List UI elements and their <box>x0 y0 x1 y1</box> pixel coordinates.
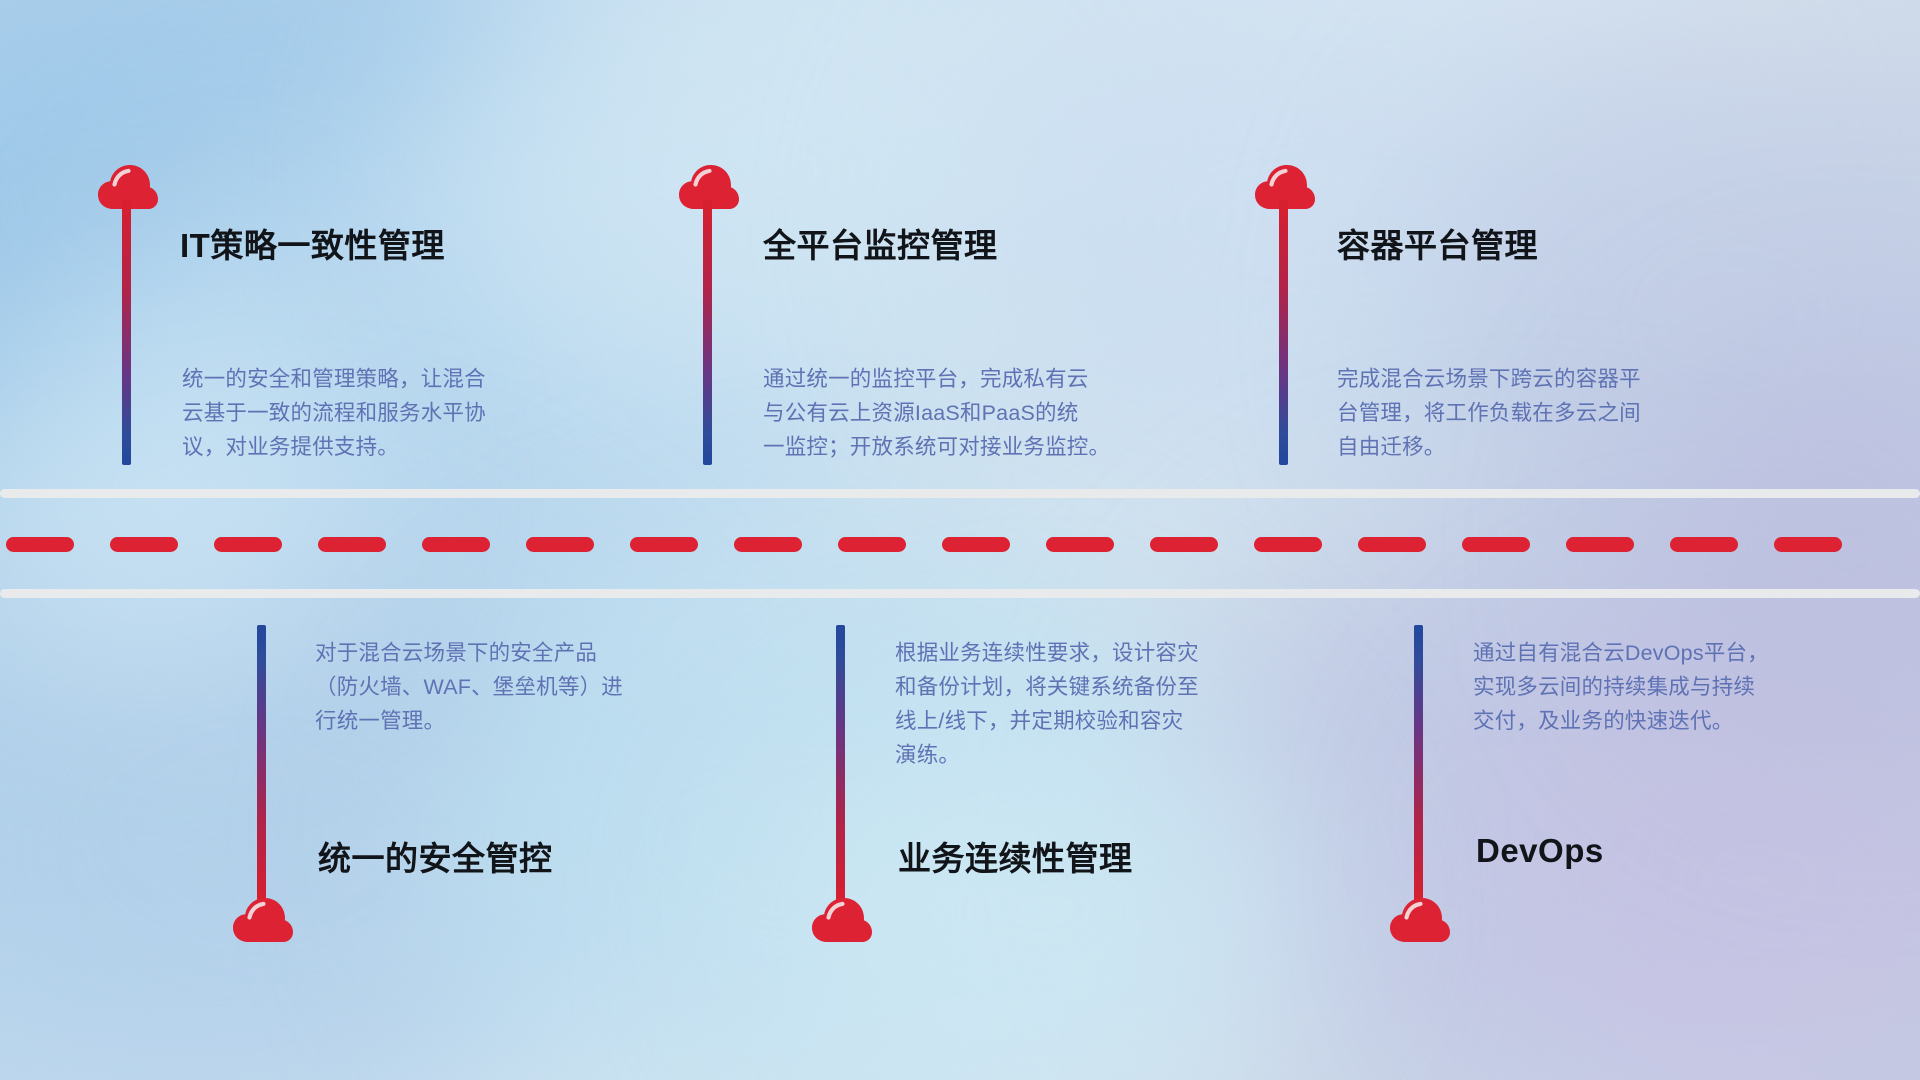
divider-dash <box>318 537 386 552</box>
column-body-text: 对于混合云场景下的安全产品 （防火墙、WAF、堡垒机等）进 行统一管理。 <box>315 636 745 738</box>
divider-dash <box>422 537 490 552</box>
divider-dash <box>1150 537 1218 552</box>
divider-dash <box>1046 537 1114 552</box>
column-body-text: 根据业务连续性要求，设计容灾 和备份计划，将关键系统备份至 线上/线下，并定期校… <box>895 636 1335 772</box>
column-stem <box>1279 200 1288 465</box>
divider-dash <box>630 537 698 552</box>
divider-dash <box>942 537 1010 552</box>
column-stem <box>703 200 712 465</box>
divider-line-upper <box>0 489 1920 498</box>
cloud-icon <box>232 897 294 943</box>
column-body-text: 通过自有混合云DevOps平台， 实现多云间的持续集成与持续 交付，及业务的快速… <box>1473 636 1913 738</box>
column-title: 容器平台管理 <box>1337 219 1538 267</box>
divider-dash <box>1774 537 1842 552</box>
divider-dash <box>1566 537 1634 552</box>
divider-dash <box>734 537 802 552</box>
divider-dash <box>1670 537 1738 552</box>
column-title: IT策略一致性管理 <box>180 219 445 267</box>
column-body-text: 通过统一的监控平台，完成私有云 与公有云上资源IaaS和PaaS的统 一监控；开… <box>763 362 1233 464</box>
column-title: 业务连续性管理 <box>898 832 1133 880</box>
divider-dash <box>1254 537 1322 552</box>
divider-dash <box>1358 537 1426 552</box>
divider-dash <box>526 537 594 552</box>
column-stem <box>1414 625 1423 905</box>
column-title: DevOps <box>1476 832 1604 870</box>
column-title: 统一的安全管控 <box>318 832 553 880</box>
divider-dash <box>214 537 282 552</box>
column-stem <box>836 625 845 905</box>
divider-dashed-center-line <box>0 537 1920 552</box>
cloud-icon <box>811 897 873 943</box>
column-stem <box>122 200 131 465</box>
column-title: 全平台监控管理 <box>763 219 998 267</box>
divider-dash <box>1462 537 1530 552</box>
divider-dash <box>838 537 906 552</box>
cloud-icon <box>1389 897 1451 943</box>
column-body-text: 完成混合云场景下跨云的容器平 台管理，将工作负载在多云之间 自由迁移。 <box>1337 362 1787 464</box>
divider-dash <box>110 537 178 552</box>
divider-dash <box>6 537 74 552</box>
column-body-text: 统一的安全和管理策略，让混合 云基于一致的流程和服务水平协 议，对业务提供支持。 <box>182 362 612 464</box>
column-stem <box>257 625 266 905</box>
divider-line-lower <box>0 589 1920 598</box>
